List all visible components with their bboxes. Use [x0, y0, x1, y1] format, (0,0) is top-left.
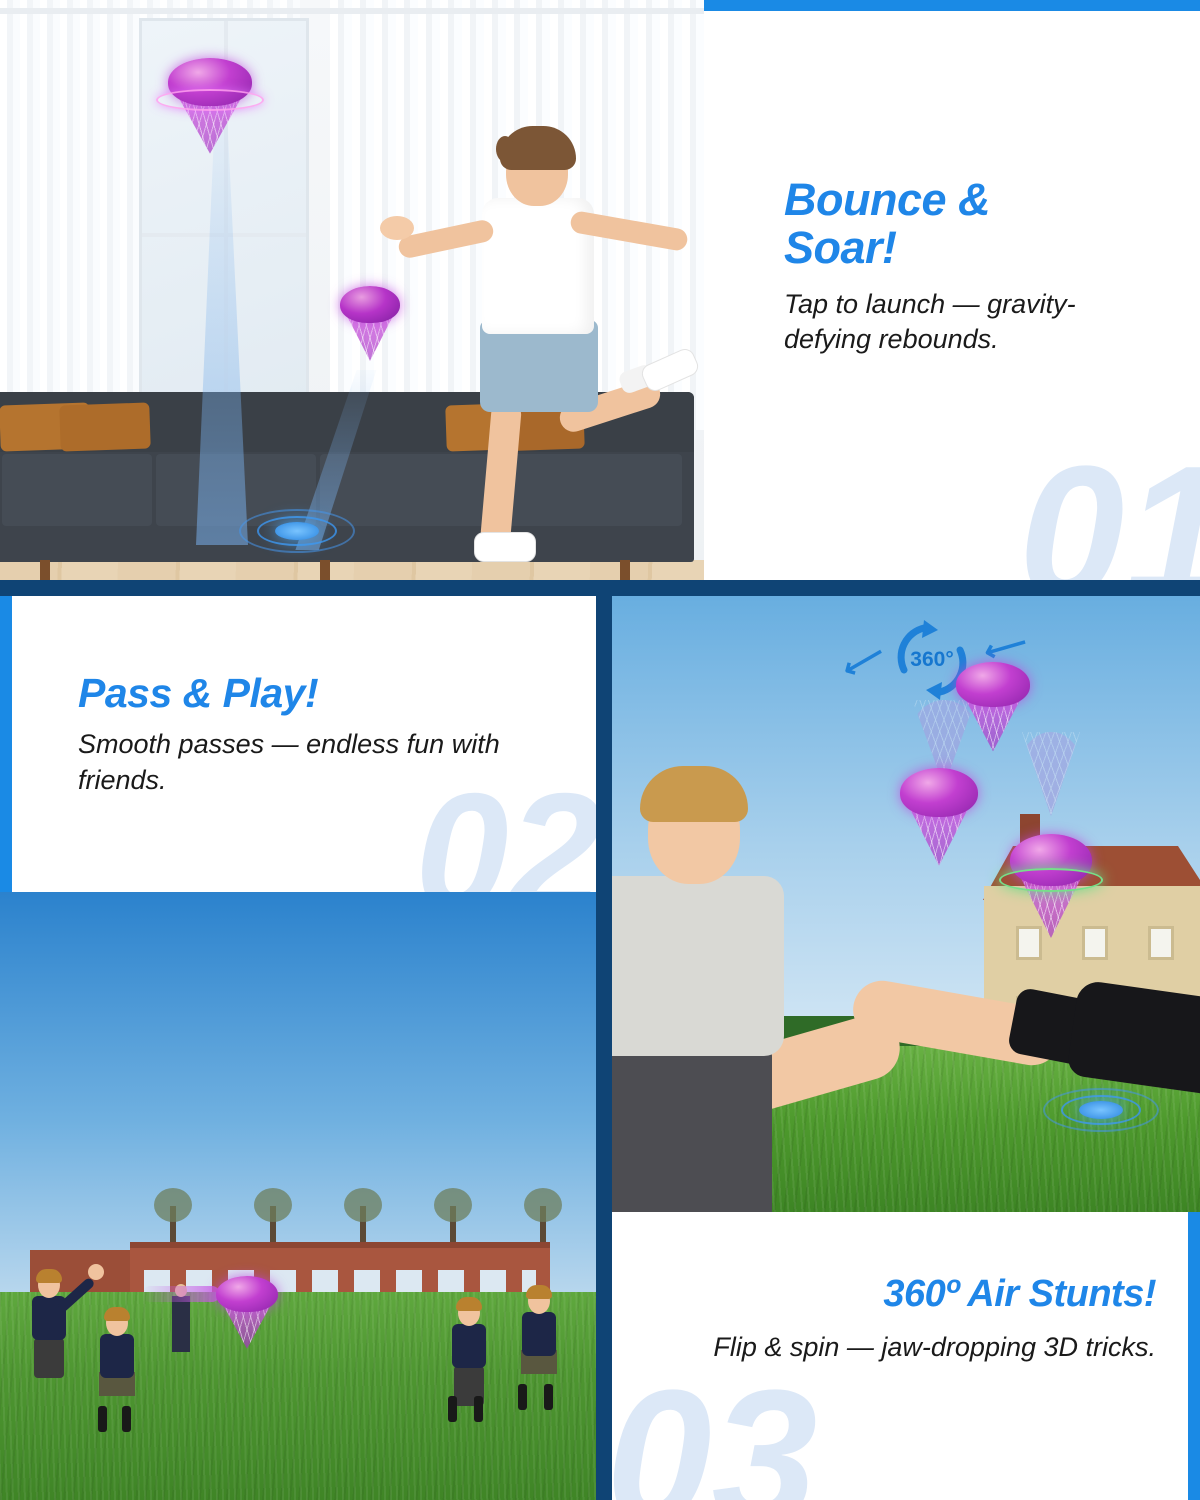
navy-jumper — [522, 1312, 556, 1356]
feature-subtext-3: Flip & spin — jaw-dropping 3D tricks. — [676, 1330, 1156, 1365]
curtain-rail — [0, 8, 704, 14]
feature-headline-1: Bounce & Soar! — [784, 176, 1104, 271]
photo-outdoor-kick-stunt: 360° ⟶ ⟵ — [612, 596, 1200, 1212]
hair — [526, 1285, 552, 1299]
leg — [480, 401, 522, 545]
sneaker — [474, 532, 536, 562]
flying-orb-toy — [216, 1276, 278, 1346]
sock — [544, 1384, 553, 1410]
feature-text-1: Bounce & Soar! Tap to launch — gravity-d… — [784, 176, 1104, 358]
sock — [98, 1406, 107, 1432]
sock — [474, 1396, 483, 1422]
accent-bar-right — [1188, 1212, 1200, 1500]
navy-jumper — [452, 1324, 486, 1368]
feature-card-2: 02 Pass & Play! Smooth passes — endless … — [0, 596, 596, 892]
flying-orb-toy — [956, 662, 1030, 748]
sofa-leg — [320, 560, 330, 580]
hair — [500, 126, 576, 170]
glow-core — [1079, 1101, 1123, 1119]
sock — [448, 1396, 457, 1422]
hair — [456, 1297, 482, 1311]
child-running — [440, 1300, 498, 1428]
badge-360-label: 360° — [910, 648, 953, 672]
glow-core — [275, 522, 319, 540]
hair — [104, 1307, 130, 1321]
child-reaching — [14, 1272, 84, 1412]
flying-orb-toy — [168, 58, 252, 150]
photo-school-field — [0, 892, 596, 1500]
trousers — [34, 1338, 64, 1378]
child-kicking — [612, 764, 1072, 1212]
sock — [518, 1384, 527, 1410]
sofa-leg — [620, 560, 630, 580]
orb-dome — [340, 286, 400, 323]
window — [1148, 926, 1174, 960]
child-running — [88, 1310, 146, 1436]
watermark-number-01: 01 — [1019, 438, 1200, 580]
feature-text-2: Pass & Play! Smooth passes — endless fun… — [78, 672, 548, 798]
teacher-figure — [172, 1296, 190, 1352]
feature-headline-3: 360º Air Stunts! — [676, 1274, 1156, 1314]
accent-bar-top — [704, 0, 1200, 11]
sock — [122, 1406, 131, 1432]
hand — [88, 1264, 104, 1280]
child-running — [508, 1288, 570, 1424]
orb-dome — [216, 1276, 278, 1312]
hand — [380, 216, 414, 240]
cushion-tan — [59, 402, 151, 451]
feature-subtext-1: Tap to launch — gravity-defying rebounds… — [784, 287, 1104, 357]
row-divider — [0, 580, 1200, 596]
flying-orb-toy — [340, 286, 400, 358]
ground-glow-rings — [1042, 1084, 1160, 1136]
feature-text-3: 360º Air Stunts! Flip & spin — jaw-dropp… — [676, 1274, 1156, 1365]
orb-dome — [956, 662, 1030, 707]
grey-tshirt — [612, 876, 784, 1056]
feature-card-1: 01 Bounce & Soar! Tap to launch — gravit… — [704, 0, 1200, 580]
hair — [640, 766, 748, 822]
motion-trail — [142, 1286, 220, 1302]
photo-indoor-living-room — [0, 0, 704, 580]
dark-shorts — [612, 1040, 772, 1212]
navy-jumper — [100, 1334, 134, 1378]
bounce-glow-rings — [238, 505, 356, 557]
product-feature-collage: 01 Bounce & Soar! Tap to launch — gravit… — [0, 0, 1200, 1500]
watermark-number-03: 03 — [612, 1362, 817, 1500]
child-running-indoors — [420, 120, 700, 560]
hair — [36, 1269, 62, 1283]
accent-bar-left — [0, 596, 12, 892]
orb-light-ring — [156, 89, 264, 111]
column-divider — [596, 596, 612, 1500]
feature-card-3: 03 360º Air Stunts! Flip & spin — jaw-dr… — [612, 1212, 1200, 1500]
wood-floor — [0, 560, 704, 580]
feature-row-1: 01 Bounce & Soar! Tap to launch — gravit… — [0, 0, 1200, 586]
feature-subtext-2: Smooth passes — endless fun with friends… — [78, 727, 548, 797]
sneaker — [639, 346, 702, 394]
sofa-leg — [40, 560, 50, 580]
feature-headline-2: Pass & Play! — [78, 672, 548, 715]
sofa-seat — [2, 454, 152, 526]
